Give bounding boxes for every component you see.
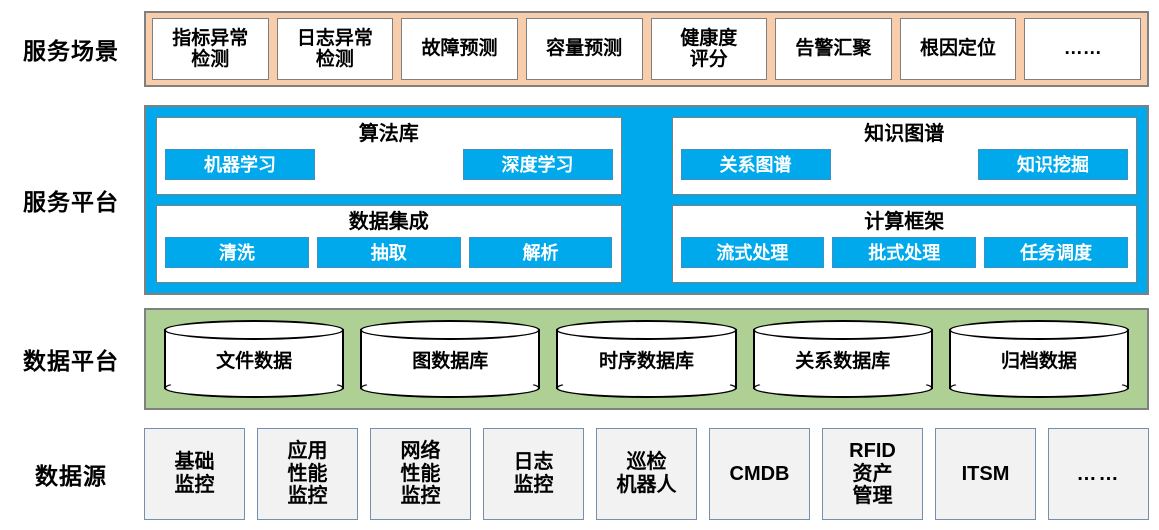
source-item[interactable]: CMDB [709, 428, 810, 520]
platform-card-data-integration[interactable]: 数据集成 清洗 抽取 解析 [156, 205, 622, 283]
source-item[interactable]: 应用 性能 监控 [257, 428, 358, 520]
cylinder-top-icon [360, 320, 540, 340]
source-item[interactable]: ITSM [935, 428, 1036, 520]
cylinder-label: 归档数据 [1001, 346, 1077, 373]
row-label-data-source: 数据源 [0, 428, 142, 520]
platform-chip[interactable]: 任务调度 [984, 237, 1128, 268]
source-item[interactable]: RFID 资产 管理 [822, 428, 923, 520]
cylinder-bottom-icon [753, 378, 933, 398]
database-cylinder-relational-db[interactable]: 关系数据库 [753, 320, 933, 398]
cylinder-label: 文件数据 [216, 346, 292, 373]
platform-card-knowledge-graph[interactable]: 知识图谱 关系图谱 知识挖掘 [672, 117, 1138, 195]
platform-chip[interactable]: 批式处理 [832, 237, 976, 268]
platform-chip[interactable]: 深度学习 [463, 149, 613, 180]
service-scenario-band: 指标异常 检测 日志异常 检测 故障预测 容量预测 健康度 评分 告警汇聚 根因… [144, 11, 1149, 87]
cylinder-bottom-icon [949, 378, 1129, 398]
cylinder-top-icon [556, 320, 736, 340]
platform-chip[interactable]: 解析 [469, 237, 613, 268]
source-item-more[interactable]: …… [1048, 428, 1149, 520]
platform-chip[interactable]: 流式处理 [681, 237, 825, 268]
platform-card-compute-framework[interactable]: 计算框架 流式处理 批式处理 任务调度 [672, 205, 1138, 283]
scenario-item[interactable]: 故障预测 [401, 18, 518, 80]
platform-card-title: 算法库 [359, 121, 419, 147]
scenario-item[interactable]: 指标异常 检测 [152, 18, 269, 80]
cylinder-top-icon [949, 320, 1129, 340]
architecture-diagram: 服务场景 服务平台 数据平台 数据源 指标异常 检测 日志异常 检测 故障预测 … [0, 0, 1159, 530]
database-cylinder-timeseries-db[interactable]: 时序数据库 [556, 320, 736, 398]
scenario-item[interactable]: 健康度 评分 [651, 18, 768, 80]
platform-card-title: 数据集成 [349, 209, 429, 235]
database-cylinder-file-data[interactable]: 文件数据 [164, 320, 344, 398]
database-cylinder-archive-data[interactable]: 归档数据 [949, 320, 1129, 398]
data-platform-band: 文件数据 图数据库 时序数据库 关系数据库 归档数据 [144, 308, 1149, 410]
cylinder-label: 图数据库 [412, 346, 488, 373]
chip-row: 清洗 抽取 解析 [165, 237, 613, 268]
scenario-item[interactable]: 容量预测 [526, 18, 643, 80]
row-label-service-scenario: 服务场景 [0, 11, 142, 87]
platform-card-title: 知识图谱 [864, 121, 944, 147]
platform-card-algorithm-library[interactable]: 算法库 机器学习 深度学习 [156, 117, 622, 195]
source-item[interactable]: 巡检 机器人 [596, 428, 697, 520]
cylinder-bottom-icon [164, 378, 344, 398]
scenario-item[interactable]: 日志异常 检测 [277, 18, 394, 80]
platform-chip[interactable]: 知识挖掘 [978, 149, 1128, 180]
platform-chip[interactable]: 抽取 [317, 237, 461, 268]
source-item[interactable]: 网络 性能 监控 [370, 428, 471, 520]
scenario-item[interactable]: 根因定位 [900, 18, 1017, 80]
platform-chip[interactable]: 清洗 [165, 237, 309, 268]
row-label-data-platform: 数据平台 [0, 308, 142, 410]
chip-row: 关系图谱 知识挖掘 [681, 149, 1129, 180]
chip-row: 机器学习 深度学习 [165, 149, 613, 180]
row-label-service-platform: 服务平台 [0, 105, 142, 295]
cylinder-bottom-icon [360, 378, 540, 398]
scenario-item[interactable]: 告警汇聚 [775, 18, 892, 80]
cylinder-label: 时序数据库 [599, 346, 694, 373]
service-platform-band: 算法库 机器学习 深度学习 知识图谱 关系图谱 知识挖掘 数据集成 清洗 [144, 105, 1149, 295]
platform-row-top: 算法库 机器学习 深度学习 知识图谱 关系图谱 知识挖掘 [156, 117, 1137, 195]
platform-chip[interactable]: 机器学习 [165, 149, 315, 180]
source-item[interactable]: 日志 监控 [483, 428, 584, 520]
database-cylinder-graph-db[interactable]: 图数据库 [360, 320, 540, 398]
cylinder-label: 关系数据库 [795, 346, 890, 373]
platform-card-title: 计算框架 [864, 209, 944, 235]
cylinder-top-icon [164, 320, 344, 340]
platform-chip[interactable]: 关系图谱 [681, 149, 831, 180]
chip-row: 流式处理 批式处理 任务调度 [681, 237, 1129, 268]
cylinder-bottom-icon [556, 378, 736, 398]
platform-row-bottom: 数据集成 清洗 抽取 解析 计算框架 流式处理 批式处理 任务调度 [156, 205, 1137, 283]
source-item[interactable]: 基础 监控 [144, 428, 245, 520]
data-source-row: 基础 监控 应用 性能 监控 网络 性能 监控 日志 监控 巡检 机器人 CMD… [144, 428, 1149, 520]
cylinder-top-icon [753, 320, 933, 340]
scenario-item-more[interactable]: …… [1024, 18, 1141, 80]
